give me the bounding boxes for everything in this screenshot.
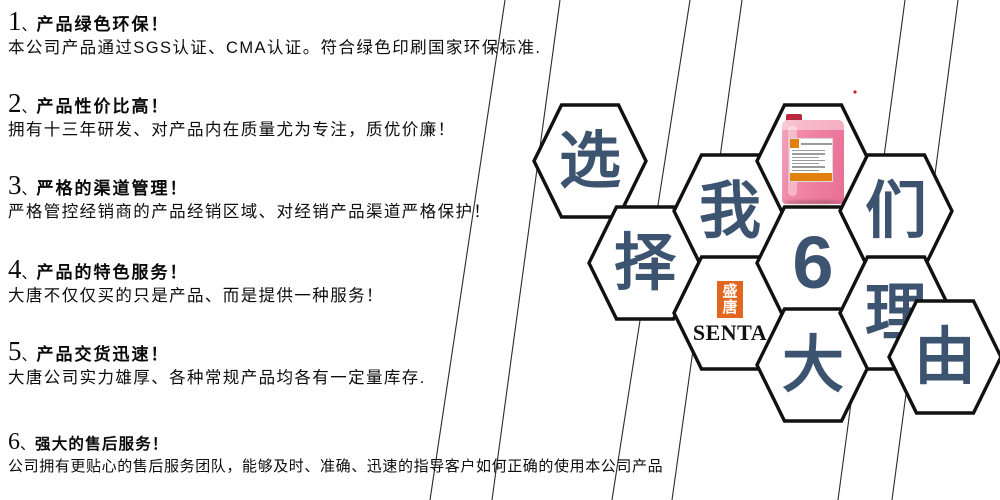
hex-cell-men: 们 xyxy=(839,153,953,269)
logo-seal-mark: 盛 唐 xyxy=(717,281,743,318)
product-label-footer xyxy=(790,173,832,181)
poster-canvas: 1、产品绿色环保！ 本公司产品通过SGS认证、CMA认证。符合绿色印刷国家环保标… xyxy=(0,0,1000,500)
product-label xyxy=(789,138,833,182)
logo-seal-char-bottom: 唐 xyxy=(722,299,737,315)
product-shadow xyxy=(784,200,842,204)
hex-cell-xuan: 选 xyxy=(533,103,647,219)
product-label-swatch xyxy=(790,139,799,148)
logo-seal-char-top: 盛 xyxy=(722,283,737,299)
product-label-header xyxy=(790,139,832,148)
product-label-title-bar xyxy=(801,143,832,145)
hex-cell-you: 由 xyxy=(888,299,1000,415)
hexagon-cluster: 选 择 我 盛 唐 SENTA xyxy=(0,0,1000,500)
product-image xyxy=(780,112,846,204)
